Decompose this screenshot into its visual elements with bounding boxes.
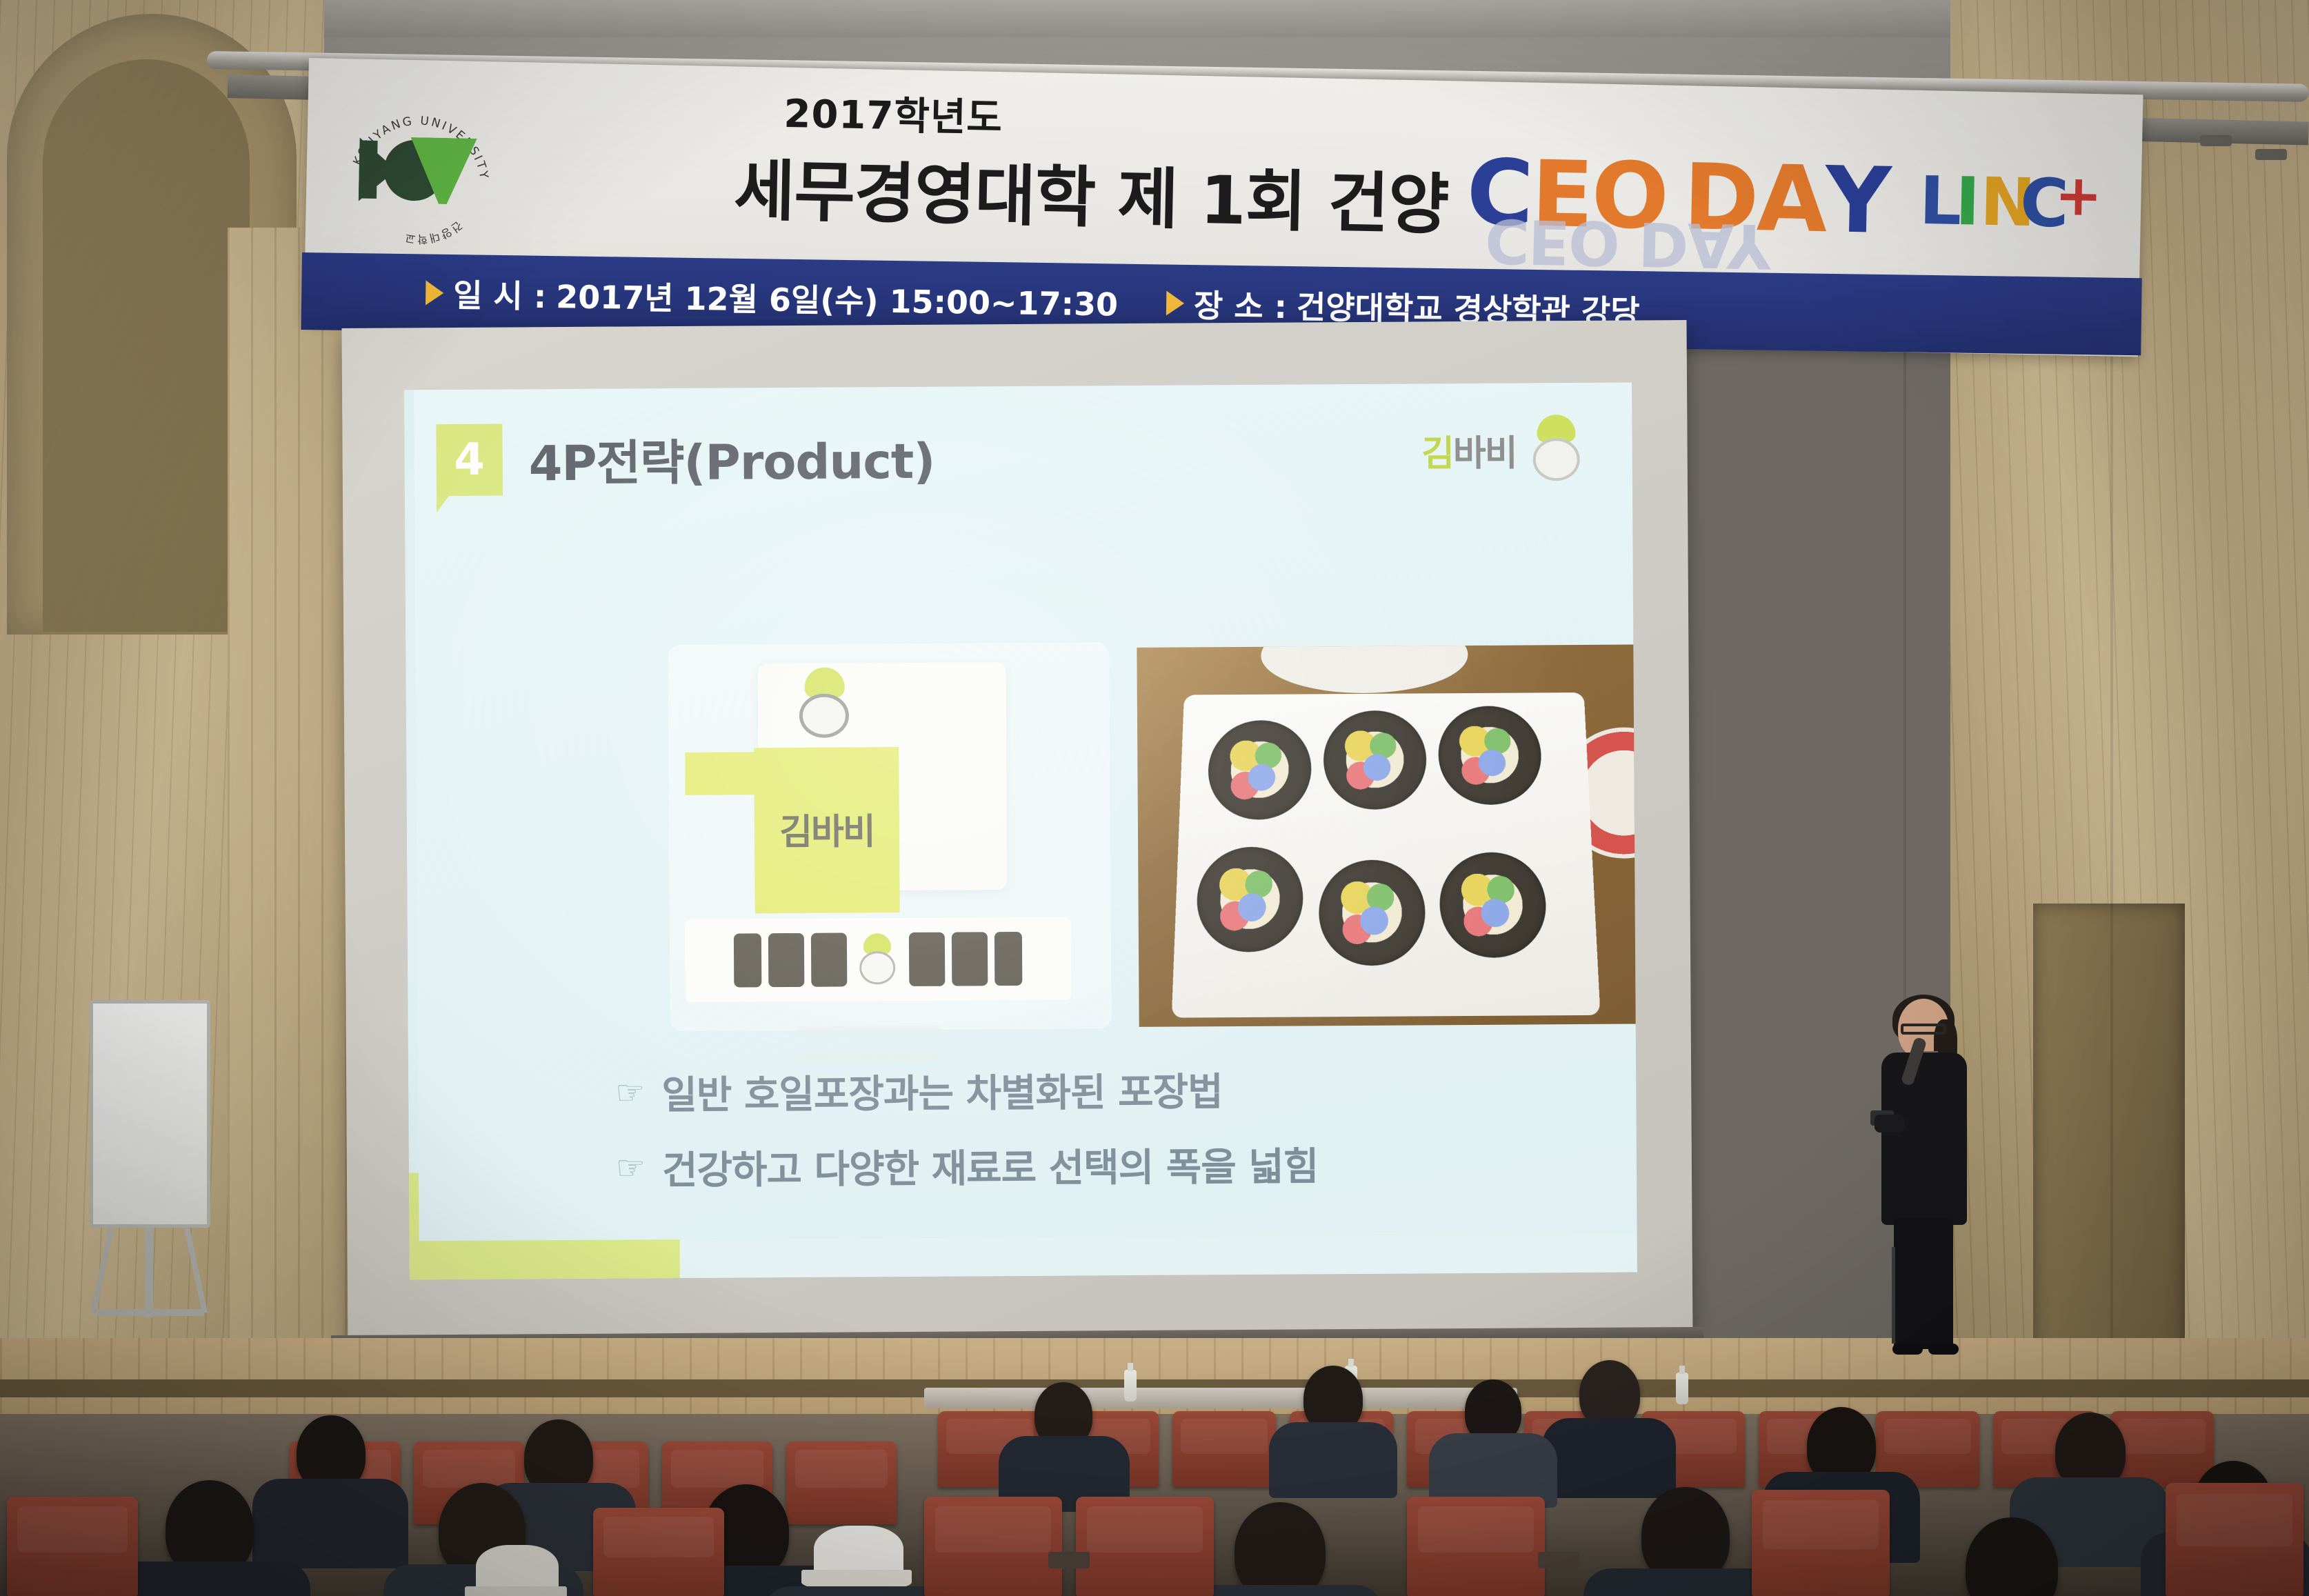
audience-shoulders [252,1479,408,1568]
package-strip [685,917,1072,1002]
audience-seat [7,1497,138,1596]
package-mockup-image: 김바비 [668,642,1111,1031]
kimbap-piece [1195,846,1303,952]
seat-armrest [1048,1552,1090,1568]
audience-seat [924,1497,1062,1596]
seat-armrest [1538,1552,1579,1568]
audience-shoulders [108,1562,310,1596]
stage-door [2033,904,2185,1379]
front-ledge [924,1388,1517,1408]
banner-date-item: 일 시 : 2017년 12월 6일(수) 15:00~17:30 [426,270,1119,326]
audience-seat [1172,1411,1276,1487]
bullet-text: 건강하고 다양한 재료로 선택의 폭을 넓힘 [662,1135,1319,1195]
linc-plus: + [2055,168,2103,225]
konyang-university-logo: KONYANG UNIVERSITY · 1991 · 건양대학교 [341,99,490,239]
kimbap-piece [1439,852,1548,958]
ceo-day-logo: C E O D A Y CEO DAY [1466,148,1890,247]
whiteboard [90,1000,214,1345]
kimbap-roll-icon [994,932,1022,986]
chef-mascot-icon [1524,415,1588,484]
package-band: 김바비 [754,747,899,913]
slide-bullet-list: ☞ 일반 호일포장과는 차별화된 포장법 ☞ 건강하고 다양한 재료로 선택의 … [615,1059,1512,1215]
package-mascot-icon [791,667,858,741]
audience-seat [786,1442,897,1524]
package-tab [685,752,761,795]
background-bowl [1261,644,1468,694]
kimbap-roll-icon [909,932,945,986]
triangle-marker-icon [426,281,444,306]
slide-bottom-accent [410,1234,1637,1280]
linc-plus-logo: L I N C + [1919,165,2099,251]
audience-seat [1076,1497,1214,1596]
glasses-icon [1901,1024,1946,1035]
audience-seat [593,1508,724,1596]
place-label: 장 소 : [1194,281,1288,328]
kimbap-piece [1437,706,1543,805]
presentation-slide: 4 4P전략(Product) 김바비 김바비 [404,383,1637,1280]
kimbap-piece [1323,710,1428,810]
package-band-label: 김바비 [754,802,899,855]
whiteboard-surface [90,1000,210,1228]
kimbap-piece [1207,720,1312,820]
pointing-hand-icon: ☞ [616,1148,646,1187]
bullet-text: 일반 호일포장과는 차별화된 포장법 [661,1061,1223,1120]
ky-monogram [359,135,477,206]
brand-text-left: 김 [1421,433,1453,475]
audience-shoulders [1542,1418,1676,1498]
kimbabi-brand-logo: 김바비 [1421,415,1588,484]
wall-panel-line [2110,228,2113,1373]
ceiling-spotlight [2200,135,2232,146]
brand-text-right: 바비 [1453,432,1517,475]
projection-screen: 4 4P전략(Product) 김바비 김바비 [341,320,1692,1349]
audience-shoulders [1269,1422,1397,1498]
list-item: ☞ 일반 호일포장과는 차별화된 포장법 [615,1059,1512,1121]
slide-title: 4P전략(Product) [528,422,934,495]
slide-number-badge: 4 [436,424,503,497]
date-value: 2017년 12월 6일(수) 15:00~17:30 [556,272,1119,325]
slide-left-accent [404,390,419,1279]
list-item: ☞ 건강하고 다양한 재료로 선택의 폭을 넓힘 [616,1135,1512,1196]
kimbap-photo [1137,644,1637,1027]
linc-i: I [1955,168,1981,235]
kimbap-roll-icon [768,933,804,987]
presenter [1862,999,1986,1364]
audience-head [1235,1502,1326,1596]
banner-main-line: 세무경영대학 제 1회 건양 C E O D A Y CEO DAY L I [733,132,2099,251]
left-arch-inner [43,59,250,632]
banner-korean-title: 세무경영대학 제 1회 건양 [733,157,1449,238]
water-bottle [1124,1370,1137,1402]
kimbap-piece [1319,859,1426,966]
slide-header: 4 4P전략(Product) [436,421,934,496]
ceoday-y: Y [1824,154,1890,247]
audience-seat [1752,1490,1890,1596]
audience-seat [2166,1483,2303,1596]
event-banner: KONYANG UNIVERSITY · 1991 · 건양대학교 2017학년… [303,58,2143,357]
kimbap-roll-icon [811,933,847,987]
white-plate [1172,692,1601,1018]
auditorium-photo: KONYANG UNIVERSITY · 1991 · 건양대학교 2017학년… [0,0,2309,1596]
triangle-marker-icon [1166,291,1185,316]
audience-seat [2110,1411,2214,1487]
brand-text: 김바비 [1421,423,1517,476]
date-label: 일 시 : [453,270,547,317]
ceiling-spotlight [2255,149,2287,160]
slide-number: 4 [454,435,485,486]
audience-seat [1407,1497,1545,1596]
ceoday-reflection: CEO DAY [1484,210,1770,276]
svg-text:건양대학교: 건양대학교 [403,217,465,247]
pointing-hand-icon: ☞ [615,1073,645,1112]
cap-brim [465,1586,567,1596]
kimbap-roll-icon [952,932,988,986]
water-bottle [1676,1373,1688,1404]
strip-mascot-icon [854,932,902,987]
kimbap-roll-icon [734,933,761,987]
